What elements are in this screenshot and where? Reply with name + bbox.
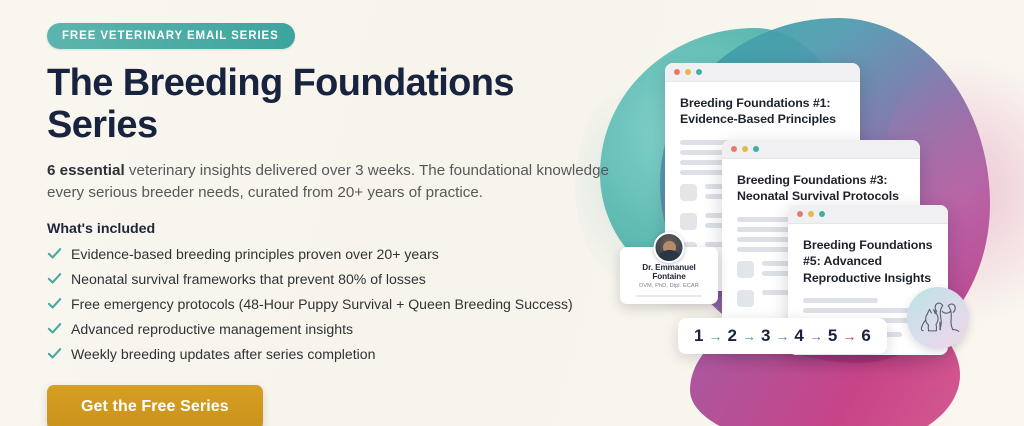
skeleton-line (803, 298, 878, 303)
maximize-dot-icon (819, 211, 825, 217)
close-dot-icon (731, 146, 737, 152)
expert-badge: Dr. Emmanuel Fontaine DVM, PhD, Dipl. EC… (620, 247, 718, 304)
card-title: Breeding Foundations #5: Advanced Reprod… (788, 224, 948, 286)
card-title: Breeding Foundations #3: Neonatal Surviv… (722, 159, 920, 205)
close-dot-icon (797, 211, 803, 217)
card-titlebar (722, 140, 920, 159)
arrow-icon: → (842, 329, 856, 343)
series-progress-steps: 1 → 2 → 3 → 4 → 5 → 6 (678, 318, 887, 354)
minimize-dot-icon (742, 146, 748, 152)
step-number-2: 2 (727, 326, 736, 346)
close-dot-icon (674, 69, 680, 75)
divider (636, 295, 702, 297)
skeleton-block (680, 184, 697, 201)
skeleton-block (737, 261, 754, 278)
expert-credentials: DVM, PhD, Dipl. ECAR (626, 283, 712, 289)
step-number-6: 6 (861, 326, 870, 346)
email-series-banner: FREE VETERINARY EMAIL SERIES The Breedin… (0, 0, 1024, 426)
arrow-icon: → (809, 329, 823, 343)
card-titlebar (788, 205, 948, 224)
step-number-4: 4 (794, 326, 803, 346)
skeleton-block (737, 290, 754, 307)
arrow-icon: → (742, 329, 756, 343)
step-number-1: 1 (694, 326, 703, 346)
maximize-dot-icon (696, 69, 702, 75)
dog-and-cat-icon (916, 298, 960, 338)
maximize-dot-icon (753, 146, 759, 152)
skeleton-block (680, 213, 697, 230)
arrow-icon: → (775, 329, 789, 343)
avatar-body (657, 250, 681, 263)
minimize-dot-icon (808, 211, 814, 217)
dog-cat-logo-badge (907, 287, 969, 349)
avatar (654, 232, 685, 263)
card-title: Breeding Foundations #1: Evidence-Based … (665, 82, 860, 128)
card-stack: Breeding Foundations #1: Evidence-Based … (0, 0, 1024, 426)
step-number-3: 3 (761, 326, 770, 346)
step-number-5: 5 (828, 326, 837, 346)
arrow-icon: → (708, 329, 722, 343)
expert-name: Dr. Emmanuel Fontaine (626, 263, 712, 281)
card-titlebar (665, 63, 860, 82)
minimize-dot-icon (685, 69, 691, 75)
skeleton-line (803, 308, 920, 313)
